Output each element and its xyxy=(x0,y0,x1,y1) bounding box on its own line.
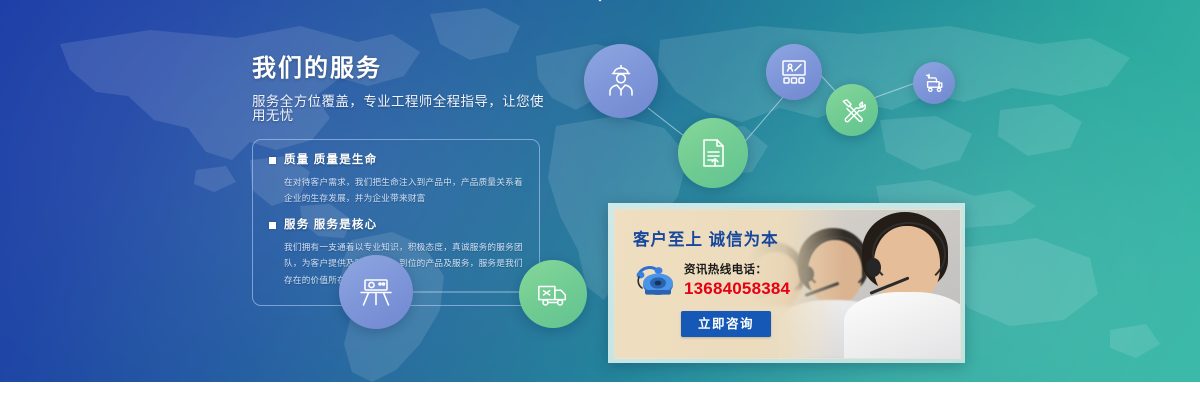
page-subtitle: 服务全方位覆盖，专业工程师全程指导，让您使用无忧 xyxy=(252,95,552,122)
customer-service-banner[interactable]: 客户至上 诚信为本 xyxy=(608,203,965,363)
square-bullet-icon xyxy=(269,157,276,164)
node-handcart[interactable] xyxy=(913,62,955,104)
node-training[interactable] xyxy=(766,44,822,100)
banner-inner-panel: 客户至上 诚信为本 xyxy=(614,209,961,359)
node-truck[interactable] xyxy=(519,260,587,328)
banner-slogan: 客户至上 诚信为本 xyxy=(633,232,833,249)
feature-heading: 服务 服务是核心 xyxy=(284,220,377,232)
rotary-phone-icon xyxy=(633,263,677,301)
hotline-row: 资讯热线电话： 13684058384 xyxy=(633,263,833,301)
banner-copy: 客户至上 诚信为本 xyxy=(633,232,833,337)
feature-heading: 质量 质量是生命 xyxy=(284,155,377,167)
agent-body xyxy=(844,292,960,358)
square-bullet-icon xyxy=(269,222,276,229)
chevron-down-icon xyxy=(566,0,634,22)
engineer-icon xyxy=(603,63,639,99)
headset-earpiece xyxy=(866,258,881,277)
node-tools[interactable] xyxy=(826,84,878,136)
delivery-truck-icon xyxy=(536,277,570,311)
hammer-wrench-icon xyxy=(839,97,866,124)
node-tripod[interactable] xyxy=(339,255,413,329)
consult-now-button[interactable]: 立即咨询 xyxy=(681,311,771,337)
feature-body: 在对待客户需求，我们把生命注入到产品中，产品质量关系着企业的生存发展，并为企业带… xyxy=(269,174,523,208)
node-engineer[interactable] xyxy=(584,44,658,118)
feature-heading-row: 质量 质量是生命 xyxy=(269,155,523,167)
service-section: 我们的服务 服务全方位覆盖，专业工程师全程指导，让您使用无忧 质量 质量是生命 … xyxy=(0,0,1200,400)
hotline-label: 资讯热线电话： xyxy=(684,264,790,278)
feature-item-quality: 质量 质量是生命 在对待客户需求，我们把生命注入到产品中，产品质量关系着企业的生… xyxy=(269,155,523,207)
node-document[interactable] xyxy=(678,118,748,188)
feature-heading-row: 服务 服务是核心 xyxy=(269,220,523,232)
headset-band xyxy=(872,222,946,286)
hotline-number: 13684058384 xyxy=(684,280,790,297)
hotline-text: 资讯热线电话： 13684058384 xyxy=(684,263,790,298)
document-upload-icon xyxy=(696,136,730,170)
survey-tripod-icon xyxy=(357,273,395,311)
hand-cart-icon xyxy=(923,72,945,94)
agent-front xyxy=(848,210,960,358)
training-board-icon xyxy=(780,58,808,86)
page-title: 我们的服务 xyxy=(252,57,552,81)
hero-gradient-panel: 我们的服务 服务全方位覆盖，专业工程师全程指导，让您使用无忧 质量 质量是生命 … xyxy=(0,0,1200,382)
